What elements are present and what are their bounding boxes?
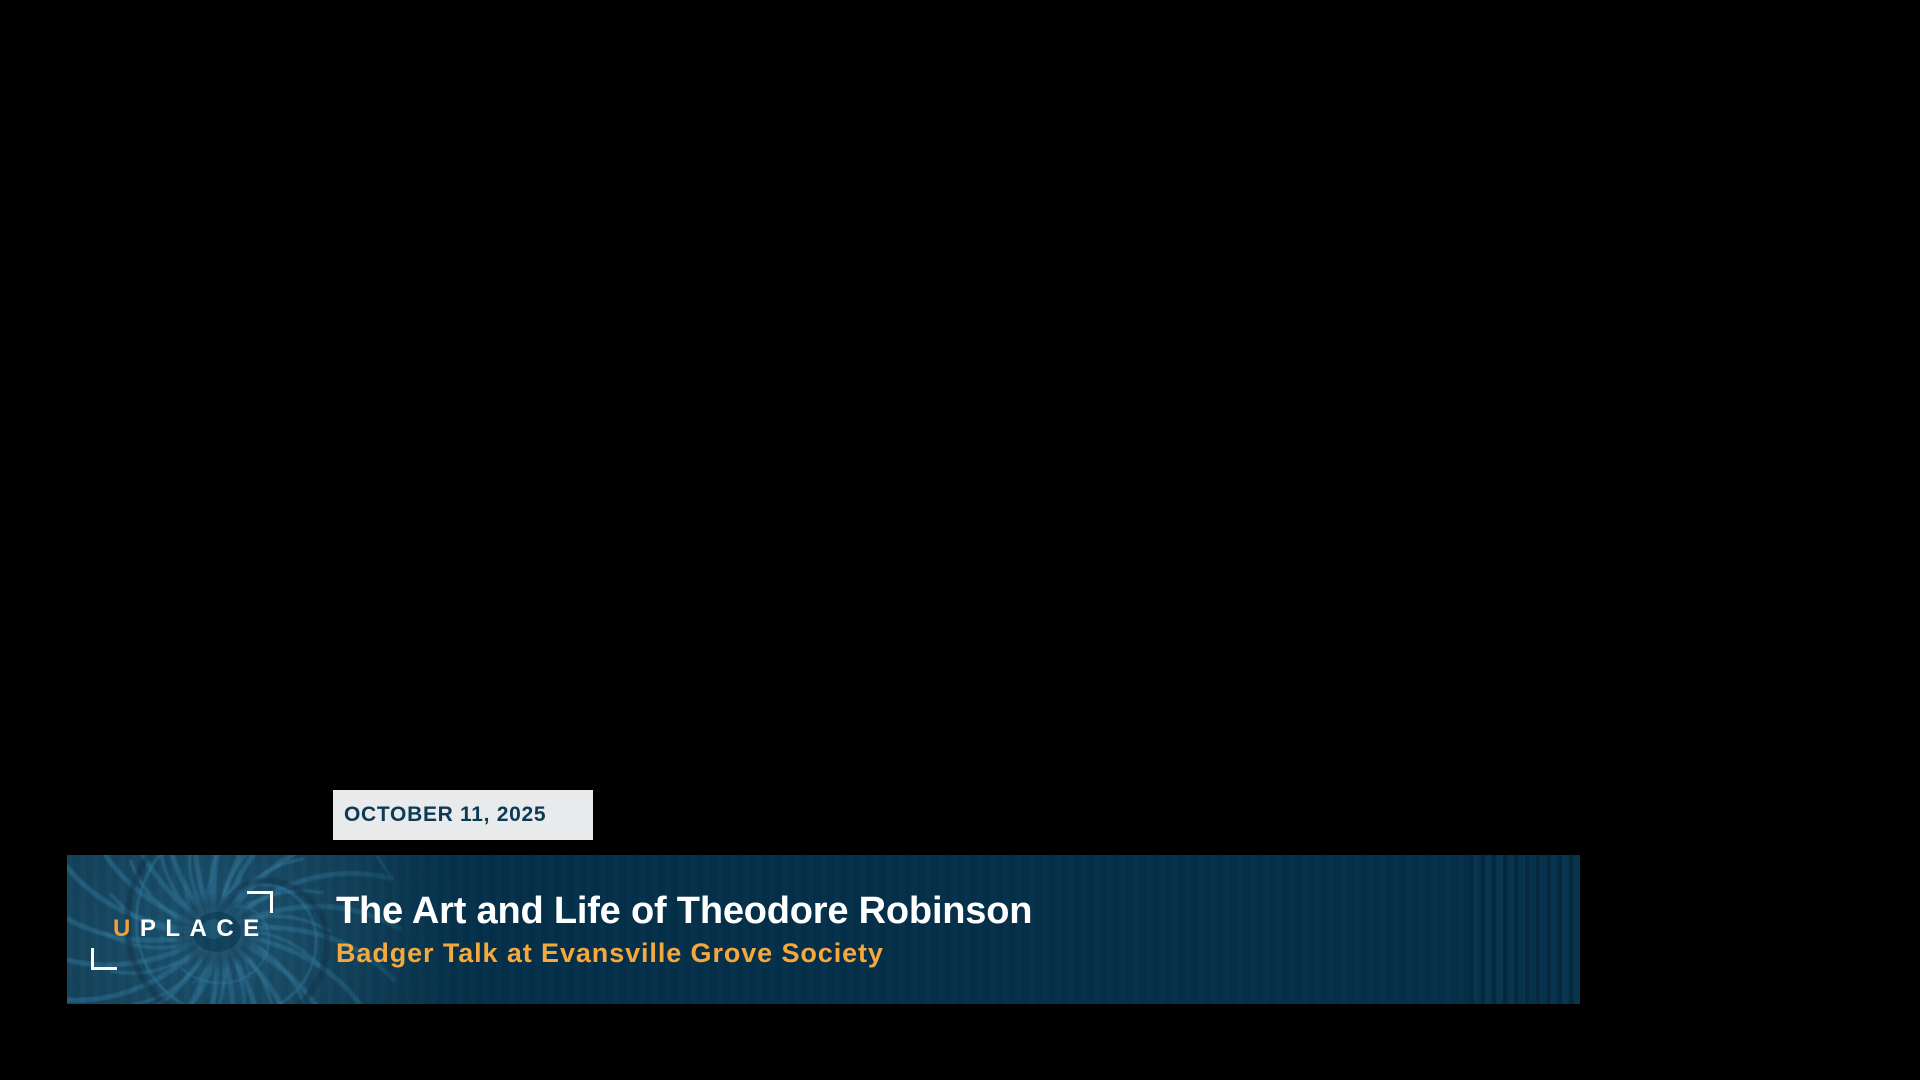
banner-text-block: The Art and Life of Theodore Robinson Ba… <box>336 855 1032 1004</box>
corner-bracket-bottom-left-icon <box>91 948 117 970</box>
event-title: The Art and Life of Theodore Robinson <box>336 891 1032 932</box>
event-date-badge: OCTOBER 11, 2025 <box>333 790 593 840</box>
uplace-logo-rest-letters: PLACE <box>140 915 269 942</box>
uplace-logo[interactable]: UPLACE <box>87 887 277 972</box>
uplace-logo-accent-letter: U <box>113 915 140 942</box>
event-subtitle: Badger Talk at Evansville Grove Society <box>336 939 1032 969</box>
page-root: OCTOBER 11, 2025 <box>0 0 1920 1080</box>
event-date-text: OCTOBER 11, 2025 <box>344 803 546 827</box>
event-banner[interactable]: UPLACE The Art and Life of Theodore Robi… <box>67 855 1580 1004</box>
banner-right-stripe-artifact <box>1470 855 1580 1004</box>
corner-bracket-top-right-icon <box>247 891 273 913</box>
uplace-logo-wordmark: UPLACE <box>113 917 269 941</box>
